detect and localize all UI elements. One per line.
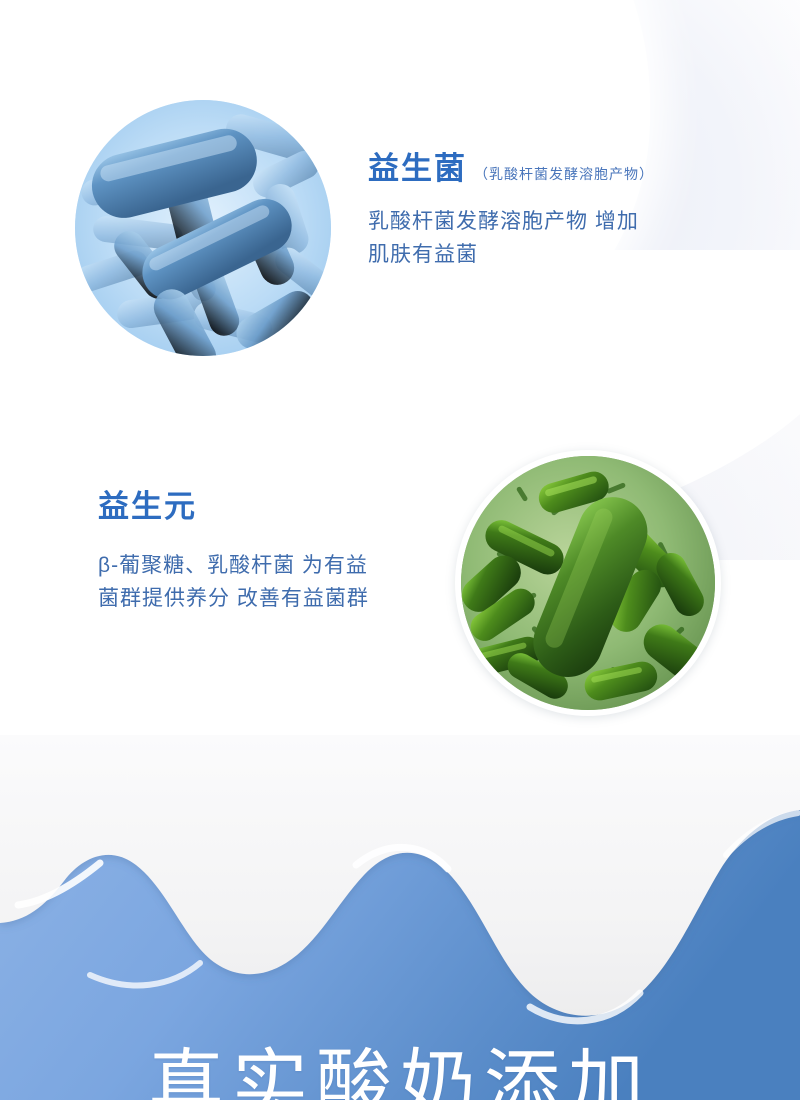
- probiotic-section: 益生菌 （乳酸杆菌发酵溶胞产物） 乳酸杆菌发酵溶胞产物 增加 肌肤有益菌: [368, 152, 768, 271]
- prebiotic-heading-row: 益生元: [98, 490, 498, 524]
- prebiotic-section: 益生元 β-葡聚糖、乳酸杆菌 为有益 菌群提供养分 改善有益菌群: [98, 490, 498, 615]
- probiotic-heading-row: 益生菌 （乳酸杆菌发酵溶胞产物）: [368, 152, 768, 186]
- probiotic-heading-note: （乳酸杆菌发酵溶胞产物）: [474, 164, 654, 184]
- probiotic-body-text: 乳酸杆菌发酵溶胞产物 增加 肌肤有益菌: [368, 206, 768, 271]
- green-bacteria-image: [455, 450, 721, 716]
- blue-bacteria-image: [75, 100, 331, 356]
- footer-headline: 真实酸奶添加: [0, 1048, 800, 1100]
- prebiotic-heading: 益生元: [98, 490, 197, 524]
- prebiotic-body-text: β-葡聚糖、乳酸杆菌 为有益 菌群提供养分 改善有益菌群: [98, 550, 498, 615]
- probiotic-heading: 益生菌: [368, 152, 467, 186]
- product-detail-page: 益生菌 （乳酸杆菌发酵溶胞产物） 乳酸杆菌发酵溶胞产物 增加 肌肤有益菌 益生元…: [0, 0, 800, 1100]
